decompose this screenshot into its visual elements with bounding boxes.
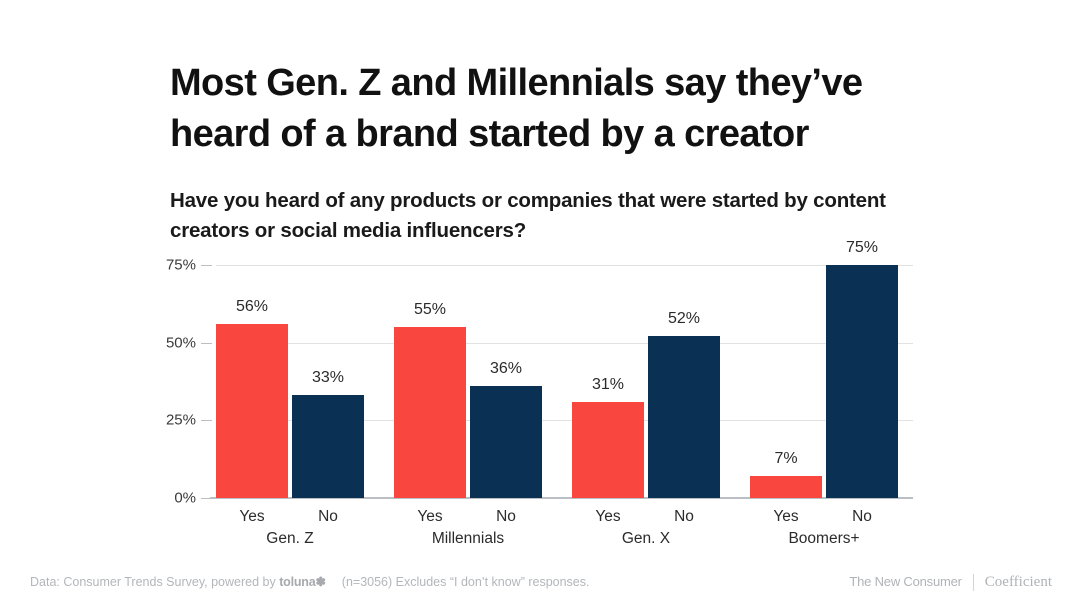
bar[interactable]: 55%	[394, 327, 466, 498]
bar-value-label: 36%	[470, 360, 542, 378]
y-axis-tick-mark	[201, 265, 212, 266]
footer-source: Data: Consumer Trends Survey, powered by…	[30, 572, 589, 592]
bar[interactable]: 52%	[648, 336, 720, 498]
footer-note: (n=3056) Excludes “I don’t know” respons…	[342, 575, 590, 589]
bar[interactable]: 7%	[750, 476, 822, 498]
bar[interactable]: 56%	[216, 324, 288, 498]
footer-divider	[973, 574, 974, 591]
x-axis-group-label: Boomers+	[750, 530, 898, 548]
bar-column[interactable]: 36%	[470, 265, 542, 498]
bar-value-label: 75%	[826, 239, 898, 257]
bar-chart: 0%25%50%75% 56%33%55%36%31%52%7%75%	[216, 265, 913, 498]
y-axis-tick-label: 75%	[166, 257, 196, 274]
bar-groups: 56%33%55%36%31%52%7%75%	[216, 265, 913, 498]
bar-value-label: 56%	[216, 298, 288, 316]
y-axis-tick-label: 50%	[166, 334, 196, 351]
bar-value-label: 55%	[394, 301, 466, 319]
bar-column[interactable]: 33%	[292, 265, 364, 498]
bar-value-label: 7%	[750, 450, 822, 468]
bar[interactable]: 33%	[292, 395, 364, 498]
x-axis-tick-label: No	[826, 508, 898, 526]
chart-subtitle: Have you heard of any products or compan…	[170, 186, 960, 245]
x-axis-tick-label: Yes	[572, 508, 644, 526]
toluna-logo: toluna✽	[279, 575, 326, 589]
bar[interactable]: 75%	[826, 265, 898, 498]
x-axis-group: YesNoMillennials	[394, 508, 542, 526]
x-axis-group-label: Gen. Z	[216, 530, 364, 548]
bar-group: 7%75%	[750, 265, 898, 498]
bar-column[interactable]: 75%	[826, 265, 898, 498]
page-title: Most Gen. Z and Millennials say they’ve …	[170, 58, 970, 159]
x-axis-tick-label: No	[292, 508, 364, 526]
bar-value-label: 33%	[292, 369, 364, 387]
bar-column[interactable]: 56%	[216, 265, 288, 498]
coefficient-logo: Coefficient	[985, 572, 1052, 592]
y-axis-tick-label: 0%	[174, 490, 196, 507]
x-axis-tick-label: Yes	[394, 508, 466, 526]
bar[interactable]: 31%	[572, 402, 644, 498]
y-axis-tick-mark	[201, 343, 212, 344]
bar-value-label: 31%	[572, 376, 644, 394]
x-axis-group: YesNoGen. Z	[216, 508, 364, 526]
slide-canvas: Most Gen. Z and Millennials say they’ve …	[0, 0, 1080, 608]
x-axis-tick-label: Yes	[750, 508, 822, 526]
source-prefix: Data: Consumer Trends Survey, powered by	[30, 575, 279, 589]
x-axis-group: YesNoBoomers+	[750, 508, 898, 526]
x-axis-tick-label: Yes	[216, 508, 288, 526]
bar-column[interactable]: 55%	[394, 265, 466, 498]
x-axis-tick-label: No	[470, 508, 542, 526]
x-axis-group: YesNoGen. X	[572, 508, 720, 526]
footer: Data: Consumer Trends Survey, powered by…	[0, 572, 1080, 598]
bar-group: 56%33%	[216, 265, 364, 498]
bar-column[interactable]: 31%	[572, 265, 644, 498]
y-axis-tick-mark	[201, 420, 212, 421]
x-axis-group-label: Millennials	[394, 530, 542, 548]
bar-group: 55%36%	[394, 265, 542, 498]
x-axis-group-label: Gen. X	[572, 530, 720, 548]
x-axis-labels: YesNoGen. ZYesNoMillennialsYesNoGen. XYe…	[216, 508, 913, 526]
x-axis-tick-label: No	[648, 508, 720, 526]
bar-group: 31%52%	[572, 265, 720, 498]
footer-branding: The New Consumer Coefficient	[849, 572, 1052, 592]
bar-column[interactable]: 7%	[750, 265, 822, 498]
the-new-consumer-logo: The New Consumer	[849, 572, 961, 592]
bar[interactable]: 36%	[470, 386, 542, 498]
y-axis-tick-label: 25%	[166, 412, 196, 429]
bar-column[interactable]: 52%	[648, 265, 720, 498]
bar-value-label: 52%	[648, 310, 720, 328]
